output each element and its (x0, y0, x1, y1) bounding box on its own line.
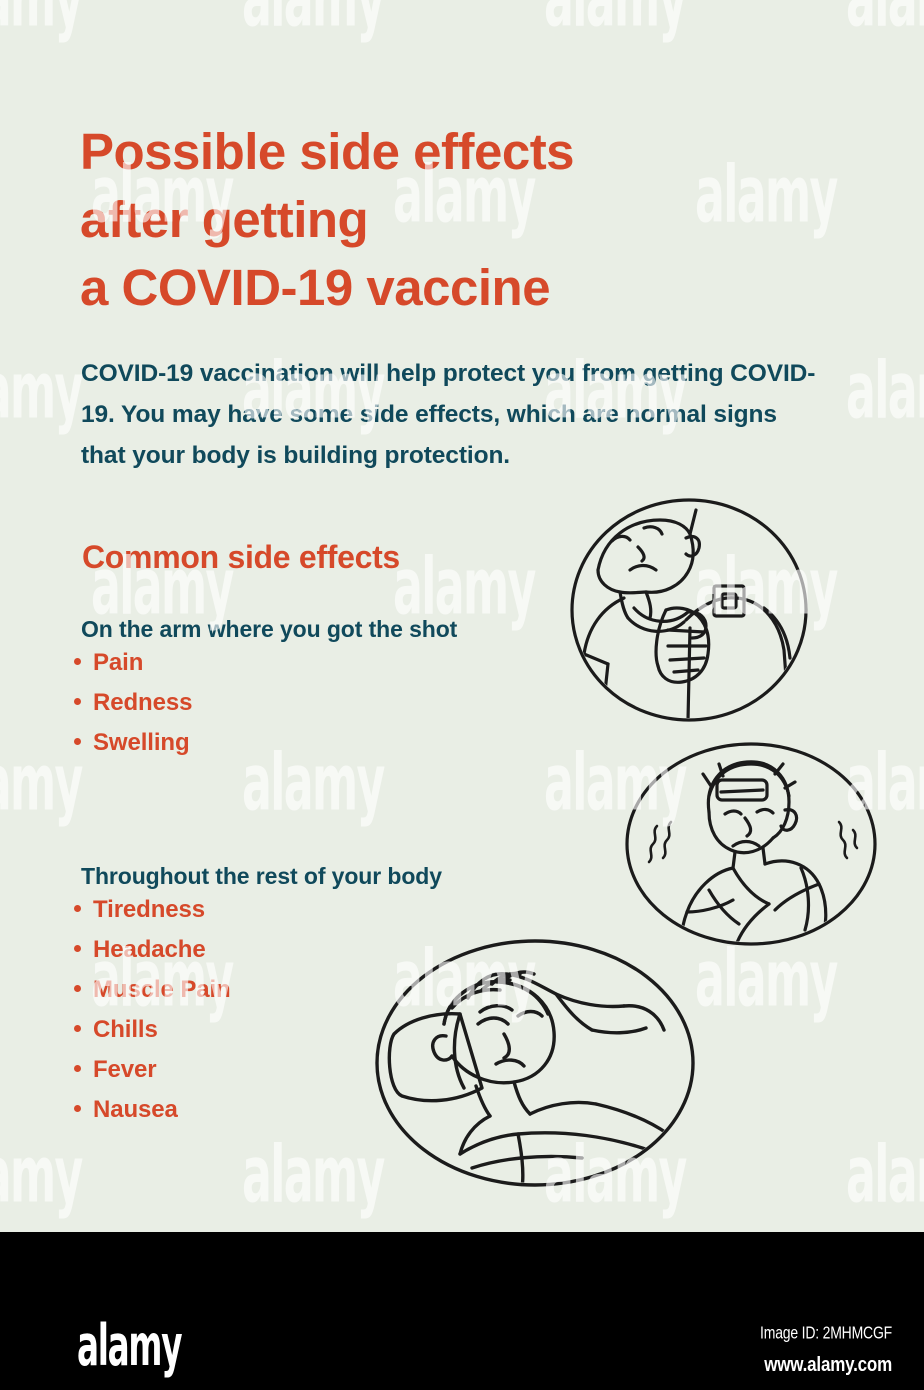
watermark-text: alamy (0, 1136, 82, 1214)
watermark-text: alamy (695, 940, 837, 1018)
alamy-image-id: Image ID: 2MHMCGF (760, 1322, 892, 1342)
watermark-text: alamy (242, 0, 384, 38)
list-item-label: Muscle Pain (93, 976, 231, 1003)
watermark-text: alamy (846, 0, 924, 38)
bullet-dot-icon (74, 738, 81, 745)
list-item-label: Tiredness (93, 896, 205, 923)
watermark-text: alamy (0, 744, 82, 822)
list-item: Swelling (74, 723, 192, 763)
list-item-label: Nausea (93, 1096, 178, 1123)
subheading-arm: On the arm where you got the shot (81, 616, 457, 643)
list-item: Headache (74, 930, 231, 970)
watermark-text: alamy (242, 1136, 384, 1214)
subheading-body: Throughout the rest of your body (81, 863, 442, 890)
bullet-dot-icon (74, 1065, 81, 1072)
list-item-label: Fever (93, 1056, 157, 1083)
bullet-list-arm: Pain Redness Swelling (74, 643, 192, 763)
bullet-list-body: Tiredness Headache Muscle Pain Chills Fe… (74, 890, 231, 1130)
bullet-dot-icon (74, 945, 81, 952)
alamy-url[interactable]: www.alamy.com (764, 1353, 892, 1377)
bullet-dot-icon (74, 985, 81, 992)
poster-canvas: alamyalamyalamyalamyalamyalamyalamyalamy… (0, 0, 924, 1232)
title-line-3: a COVID-19 vaccine (80, 254, 700, 322)
watermark-text: alamy (393, 548, 535, 626)
list-item-label: Pain (93, 649, 143, 676)
list-item: Fever (74, 1050, 231, 1090)
bullet-dot-icon (74, 905, 81, 912)
list-item: Nausea (74, 1090, 231, 1130)
alamy-logo: alamy (77, 1317, 181, 1374)
watermark-text: alamy (242, 744, 384, 822)
illustration-headache-in-bed-icon (372, 938, 698, 1188)
bullet-dot-icon (74, 1025, 81, 1032)
list-item: Redness (74, 683, 192, 723)
watermark-text: alamy (695, 156, 837, 234)
section-heading-common-side-effects: Common side effects (82, 539, 400, 576)
page-title: Possible side effects after getting a CO… (80, 118, 700, 321)
bullet-dot-icon (74, 698, 81, 705)
title-line-2: after getting (80, 186, 700, 254)
watermark-text: alamy (0, 352, 82, 430)
list-item-label: Swelling (93, 729, 190, 756)
list-item: Tiredness (74, 890, 231, 930)
title-line-1: Possible side effects (80, 118, 700, 186)
watermark-text: alamy (544, 0, 686, 38)
list-item: Pain (74, 643, 192, 683)
list-item: Chills (74, 1010, 231, 1050)
watermark-text: alamy (846, 1136, 924, 1214)
list-item-label: Chills (93, 1016, 158, 1043)
intro-paragraph: COVID-19 vaccination will help protect y… (81, 353, 821, 476)
list-item-label: Redness (93, 689, 192, 716)
watermark-text: alamy (0, 0, 82, 38)
list-item: Muscle Pain (74, 970, 231, 1010)
illustration-chills-blanket-icon (623, 740, 879, 948)
alamy-footer-bar: alamy Image ID: 2MHMCGF www.alamy.com (0, 1305, 924, 1390)
watermark-text: alamy (846, 352, 924, 430)
illustration-sore-arm-icon (568, 498, 810, 723)
list-item-label: Headache (93, 936, 206, 963)
bullet-dot-icon (74, 1105, 81, 1112)
bullet-dot-icon (74, 658, 81, 665)
